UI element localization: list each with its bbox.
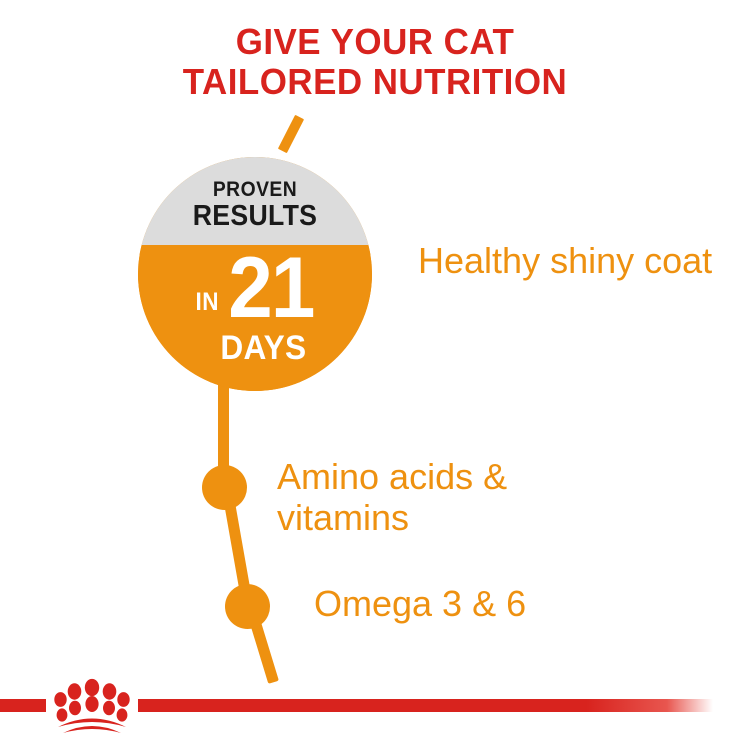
- badge-duration-row: IN 21: [138, 249, 372, 327]
- benefit-label-omega-3-6: Omega 3 & 6: [314, 583, 644, 624]
- headline-line-1: GIVE YOUR CAT: [11, 22, 739, 62]
- connector-dot-1: [202, 465, 247, 510]
- footer-bar-left: [0, 699, 46, 712]
- badge-proven-label: PROVEN: [147, 179, 362, 201]
- page-title: GIVE YOUR CAT TAILORED NUTRITION: [11, 22, 739, 102]
- badge-in-label: IN: [195, 290, 223, 327]
- footer-bar-right: [138, 699, 713, 712]
- benefit-label-healthy-shiny-coat: Healthy shiny coat: [418, 240, 718, 281]
- badge-results-label: RESULTS: [147, 201, 362, 232]
- benefit-label-amino-acids-vitamins: Amino acids & vitamins: [277, 456, 607, 538]
- proven-results-badge: PROVEN RESULTS IN 21 DAYS: [138, 157, 372, 391]
- headline-line-2: TAILORED NUTRITION: [11, 62, 739, 102]
- promo-canvas: GIVE YOUR CAT TAILORED NUTRITION PROVEN …: [0, 0, 750, 750]
- slanted-dash-icon: [278, 115, 304, 153]
- connector-dot-2: [225, 584, 270, 629]
- brand-footer: [0, 674, 750, 750]
- royal-canin-crown-icon: [48, 674, 136, 734]
- badge-number-value: 21: [228, 249, 313, 327]
- badge-days-label: DAYS: [146, 330, 364, 366]
